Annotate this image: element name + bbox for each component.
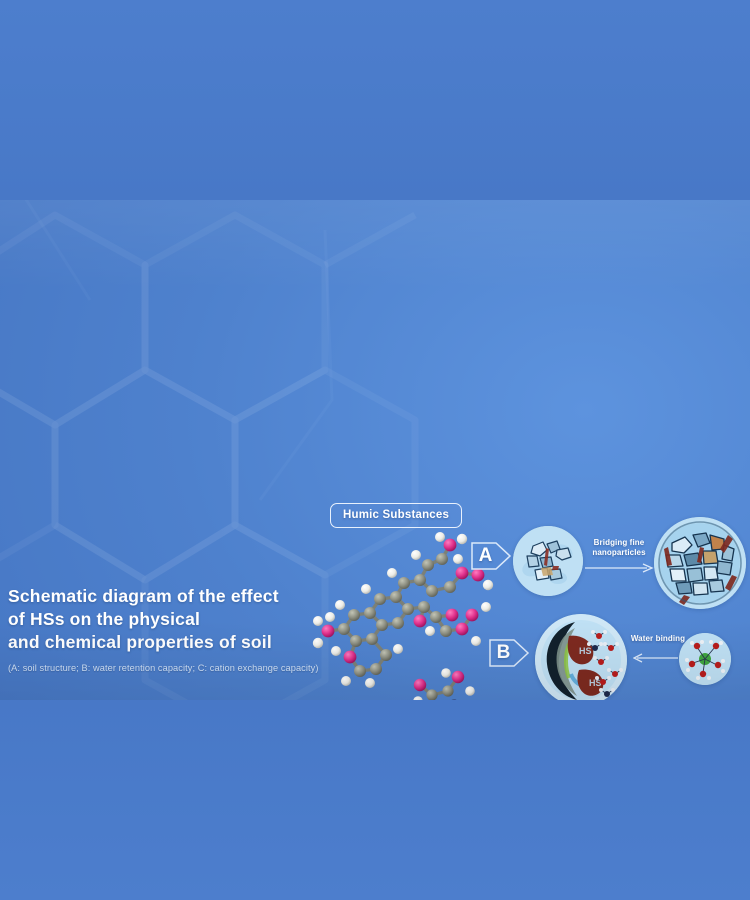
panel-badge-letter-a: A bbox=[470, 536, 501, 576]
loose-mineral-aggregate-illustration bbox=[513, 526, 583, 596]
panel-a-right-circle bbox=[654, 517, 746, 609]
figure-canvas: Schematic diagram of the effect of HSs o… bbox=[0, 0, 750, 900]
panel-badge-b: B bbox=[488, 633, 530, 673]
panel-a-process-label-line2: nanoparticles bbox=[578, 548, 660, 558]
page-title: Schematic diagram of the effect of HSs o… bbox=[8, 585, 348, 654]
panel-b-process-label-line1: Water binding bbox=[628, 634, 688, 644]
panel-a-process-label-line1: Bridging fine bbox=[578, 538, 660, 548]
bridged-soil-aggregate-illustration bbox=[654, 517, 746, 609]
background-band-bottom bbox=[0, 700, 750, 900]
panel-badge-letter-b: B bbox=[488, 633, 519, 673]
panel-a-left-circle bbox=[513, 526, 583, 596]
panel-a-process-arrow bbox=[585, 562, 655, 574]
arrow-left-icon bbox=[633, 652, 678, 664]
panel-b-left-circle: HS HS bbox=[535, 614, 627, 700]
panel-a-process-label: Bridging fine nanoparticles bbox=[578, 538, 660, 558]
text-block: Schematic diagram of the effect of HSs o… bbox=[8, 585, 348, 700]
subtitle: (A: soil structure; B: water retention c… bbox=[8, 661, 348, 675]
panel-b-process-label: Water binding bbox=[628, 634, 688, 644]
background-band-top bbox=[0, 0, 750, 200]
panel-badge-a: A bbox=[470, 536, 512, 576]
headline-line-1: Schematic diagram of the effect bbox=[8, 585, 348, 608]
headline-line-3: and chemical properties of soil bbox=[8, 631, 348, 654]
svg-text:HS: HS bbox=[579, 646, 592, 656]
figure-band: Schematic diagram of the effect of HSs o… bbox=[0, 200, 750, 700]
arrow-right-icon bbox=[585, 562, 655, 574]
panel-b-process-arrow bbox=[633, 652, 678, 664]
hs-coated-aggregate-with-water-illustration: HS HS bbox=[535, 614, 627, 700]
headline-line-2: of HSs on the physical bbox=[8, 608, 348, 631]
